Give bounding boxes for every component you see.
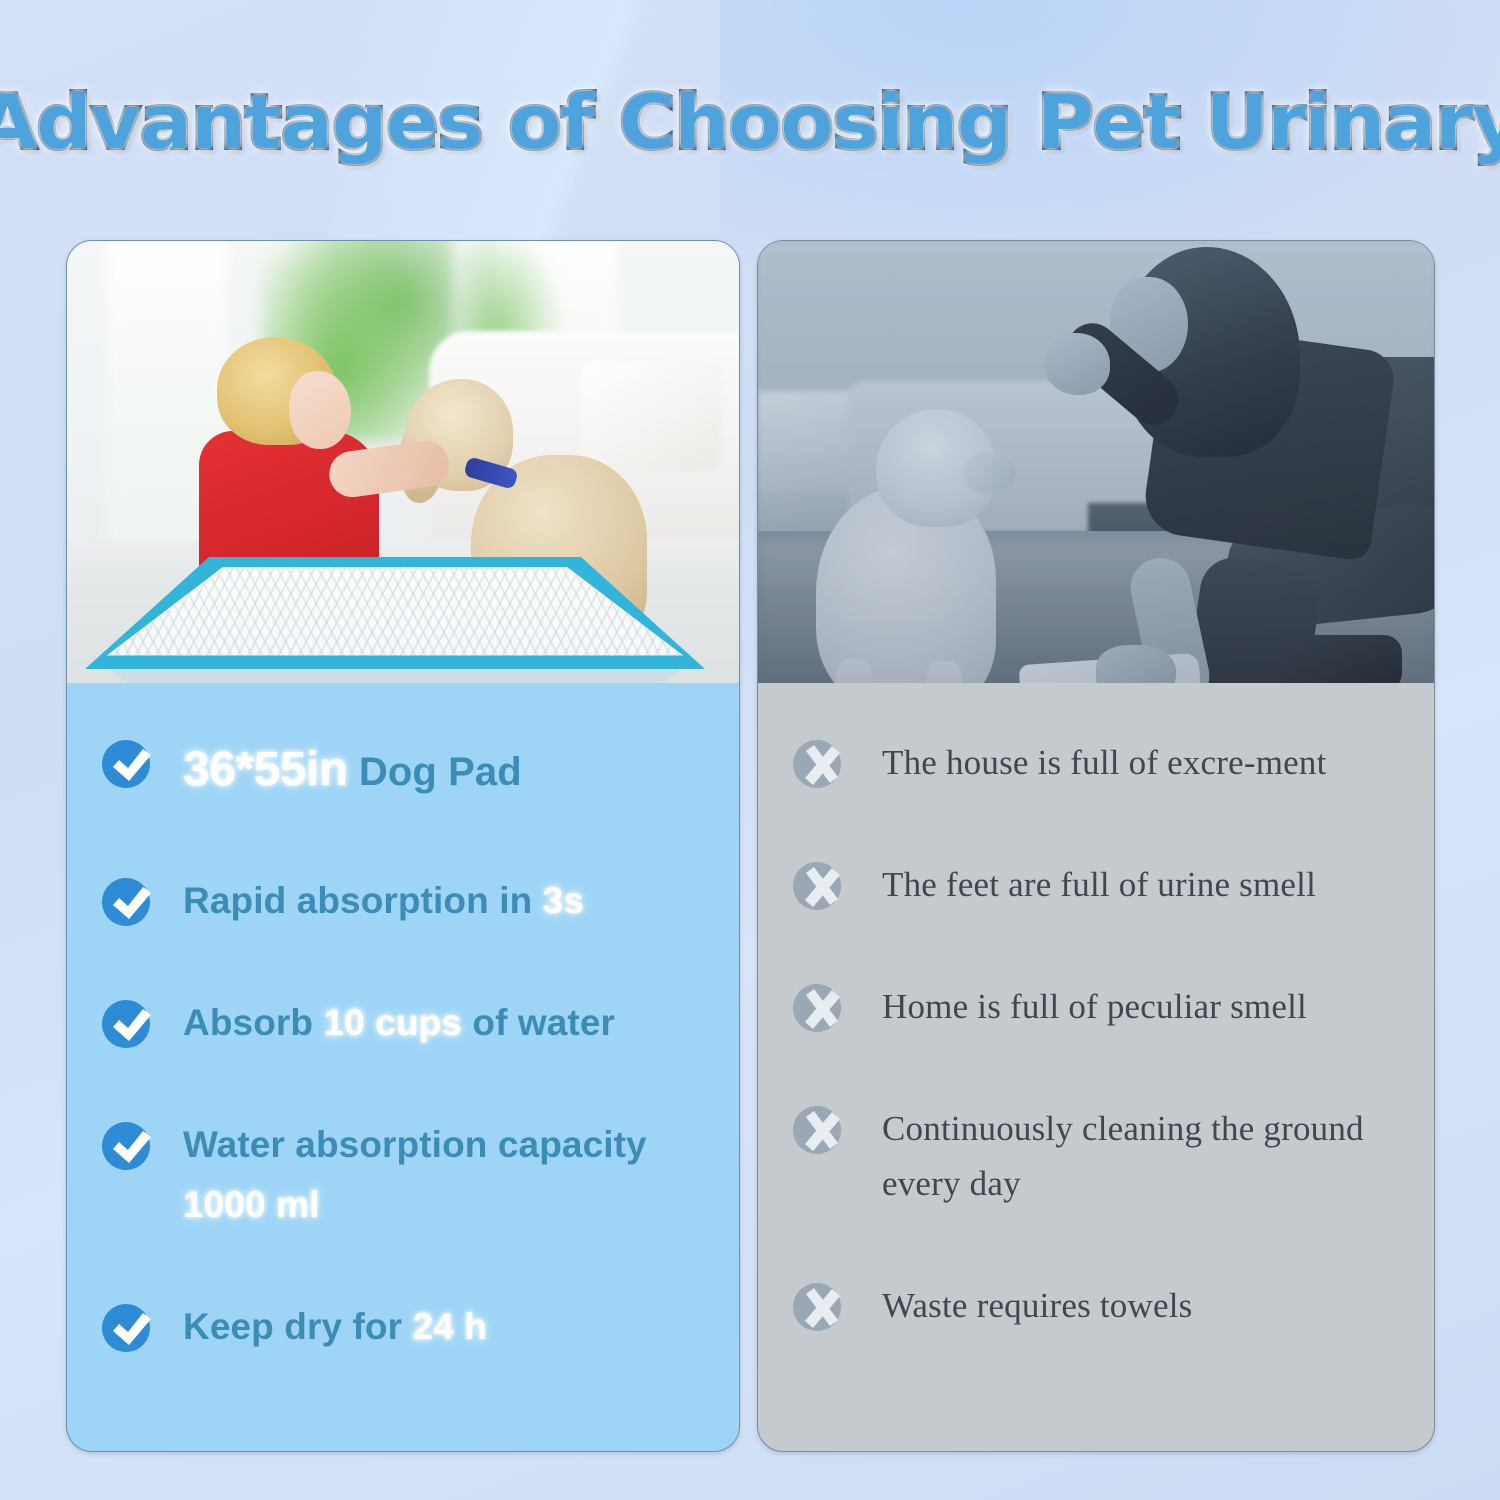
list-item: Waste requires towels	[758, 1274, 1434, 1334]
list-item: Absorb 10 cups of water	[67, 991, 739, 1053]
highlight-value: 36*55in	[183, 743, 348, 796]
list-item-label: 36*55in Dog Pad	[183, 731, 522, 809]
list-item-label: The feet are full of urine smell	[882, 853, 1316, 912]
list-item: Water absorption capacity 1000 ml	[67, 1113, 739, 1235]
check-circle-icon	[99, 733, 157, 791]
check-circle-icon	[99, 1297, 157, 1355]
label-text: Absorb	[183, 1002, 323, 1043]
list-item: Rapid absorption in 3s	[67, 869, 739, 931]
label-text: Keep dry for	[183, 1306, 413, 1347]
drawbacks-panel: The house is full of excre-ment The feet…	[757, 240, 1435, 1452]
page-title: Advantages of Choosing Pet Urinary Mats	[0, 78, 1500, 166]
cross-circle-icon	[790, 733, 848, 791]
highlight-value: 3s	[543, 880, 584, 921]
cross-circle-icon	[790, 1276, 848, 1334]
advantages-panel: 36*55in Dog Pad Rapid absorption in 3s A…	[66, 240, 740, 1452]
list-item: The feet are full of urine smell	[758, 853, 1434, 913]
check-circle-icon	[99, 871, 157, 929]
highlight-value: 1000 ml	[183, 1184, 319, 1225]
highlight-value: 10 cups	[323, 1002, 462, 1043]
label-text: Rapid absorption in	[183, 880, 543, 921]
advantages-photo	[67, 241, 739, 683]
advantages-list: 36*55in Dog Pad Rapid absorption in 3s A…	[67, 683, 739, 1356]
drawbacks-photo	[758, 241, 1434, 683]
list-item-label: Water absorption capacity 1000 ml	[183, 1113, 715, 1235]
check-circle-icon	[99, 993, 157, 1051]
label-text-suffix: of water	[462, 1002, 615, 1043]
list-item-label: Home is full of peculiar smell	[882, 975, 1307, 1034]
list-item-label: Keep dry for 24 h	[183, 1295, 487, 1357]
cushion-icon	[581, 361, 721, 471]
list-item: 36*55in Dog Pad	[67, 731, 739, 809]
cross-circle-icon	[790, 1099, 848, 1157]
list-item: Continuously cleaning the ground every d…	[758, 1097, 1434, 1212]
drawbacks-list: The house is full of excre-ment The feet…	[758, 683, 1434, 1334]
list-item-label: Waste requires towels	[882, 1274, 1192, 1333]
boy-face	[289, 371, 351, 449]
highlight-value: 24 h	[413, 1306, 487, 1347]
list-item: Keep dry for 24 h	[67, 1295, 739, 1357]
label-text: Water absorption capacity	[183, 1124, 647, 1165]
list-item-label: Rapid absorption in 3s	[183, 869, 584, 931]
label-text: Dog Pad	[348, 750, 522, 794]
photo-blue-tint	[758, 241, 1434, 683]
check-circle-icon	[99, 1115, 157, 1173]
list-item-label: Absorb 10 cups of water	[183, 991, 615, 1053]
pad-reflection	[85, 667, 705, 683]
list-item: Home is full of peculiar smell	[758, 975, 1434, 1035]
list-item: The house is full of excre-ment	[758, 731, 1434, 791]
list-item-label: The house is full of excre-ment	[882, 731, 1327, 790]
cross-circle-icon	[790, 977, 848, 1035]
list-item-label: Continuously cleaning the ground every d…	[882, 1097, 1402, 1212]
cross-circle-icon	[790, 855, 848, 913]
